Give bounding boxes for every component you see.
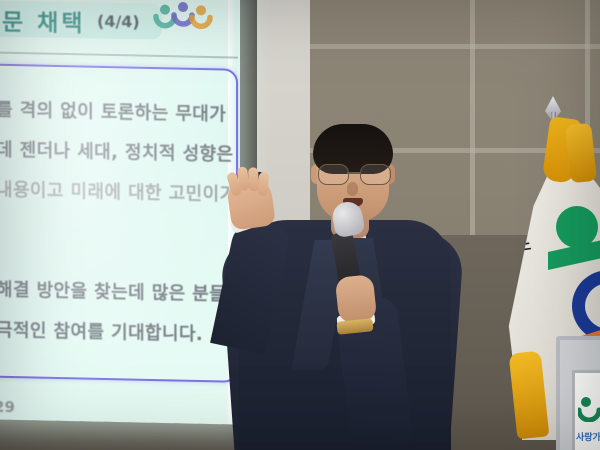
glasses-lens-left (318, 164, 349, 185)
slide-page-number: 29 (0, 398, 15, 416)
glasses-lens-right (360, 164, 391, 185)
glasses-icon (317, 164, 391, 184)
speaker-nose (347, 182, 358, 196)
slide-body-line-2: 데 젠더나 세대, 정치적 성향은 (0, 136, 233, 167)
screenshot-root: 문 채택 (4/4) 를 격의 없이 토론하는 무대가 데 젠더나 세대, 정치… (0, 0, 600, 450)
green-person-logo (578, 396, 600, 422)
slide-title-counter: (4/4) (97, 12, 140, 32)
podium-sign-caption: 사랑가 (576, 430, 600, 443)
slide-body-line-5: 극적인 참여를 기대합니다. (0, 316, 203, 346)
finger-4 (258, 172, 270, 197)
speaker-hand-raised (226, 177, 276, 231)
flag-emblem-green-circle (556, 206, 598, 248)
speaker-hand-microphone (335, 274, 378, 324)
slide-body-line-3: 내용이고 미래에 대한 고민이기 (0, 175, 236, 206)
glasses-bridge (347, 172, 360, 174)
slide-body-line-1: 를 격의 없이 토론하는 무대가 (0, 96, 226, 127)
slide-title: 문 채택 (2, 3, 167, 40)
speaker-figure (225, 128, 455, 450)
slide-body-line-4: 해결 방안을 찾는데 많은 분들의 (0, 275, 243, 306)
three-people-logo (152, 0, 214, 35)
